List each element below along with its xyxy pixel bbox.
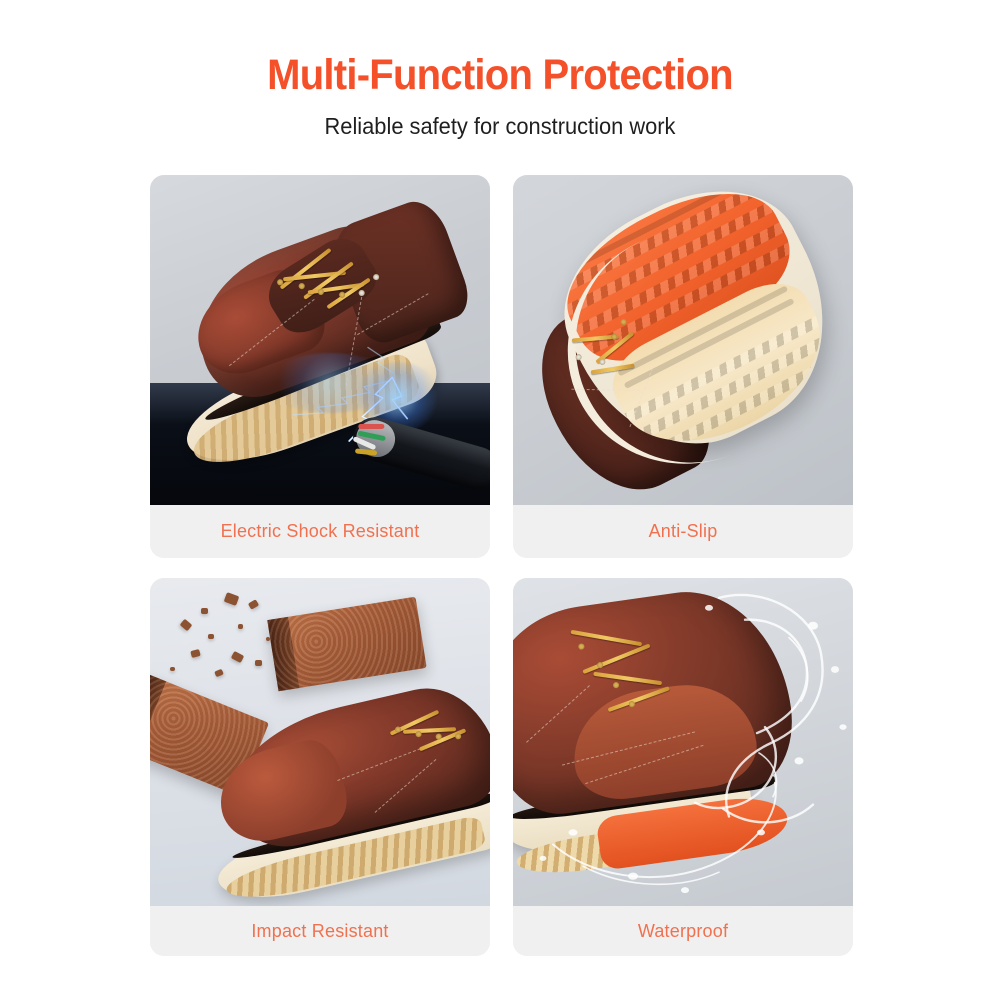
infographic-page: Multi-Function Protection Reliable safet… <box>0 0 1000 1000</box>
feature-card-impact-resistant[interactable]: Impact Resistant <box>150 578 490 956</box>
feature-caption-electric-shock-resistant: Electric Shock Resistant <box>150 505 490 558</box>
feature-image-impact-resistant <box>150 578 490 906</box>
feature-image-anti-slip <box>513 175 853 505</box>
page-subtitle: Reliable safety for construction work <box>25 113 975 140</box>
feature-caption-impact-resistant: Impact Resistant <box>150 906 490 956</box>
feature-caption-waterproof: Waterproof <box>513 906 853 956</box>
feature-card-anti-slip[interactable]: Anti-Slip <box>513 175 853 558</box>
header: Multi-Function Protection Reliable safet… <box>0 52 1000 140</box>
feature-card-waterproof[interactable]: Waterproof <box>513 578 853 956</box>
feature-image-electric-shock-resistant <box>150 175 490 505</box>
feature-card-electric-shock-resistant[interactable]: Electric Shock Resistant <box>150 175 490 558</box>
feature-image-waterproof <box>513 578 853 906</box>
page-title: Multi-Function Protection <box>35 52 965 98</box>
feature-caption-anti-slip: Anti-Slip <box>513 505 853 558</box>
feature-grid: Electric Shock Resistant <box>150 175 853 956</box>
